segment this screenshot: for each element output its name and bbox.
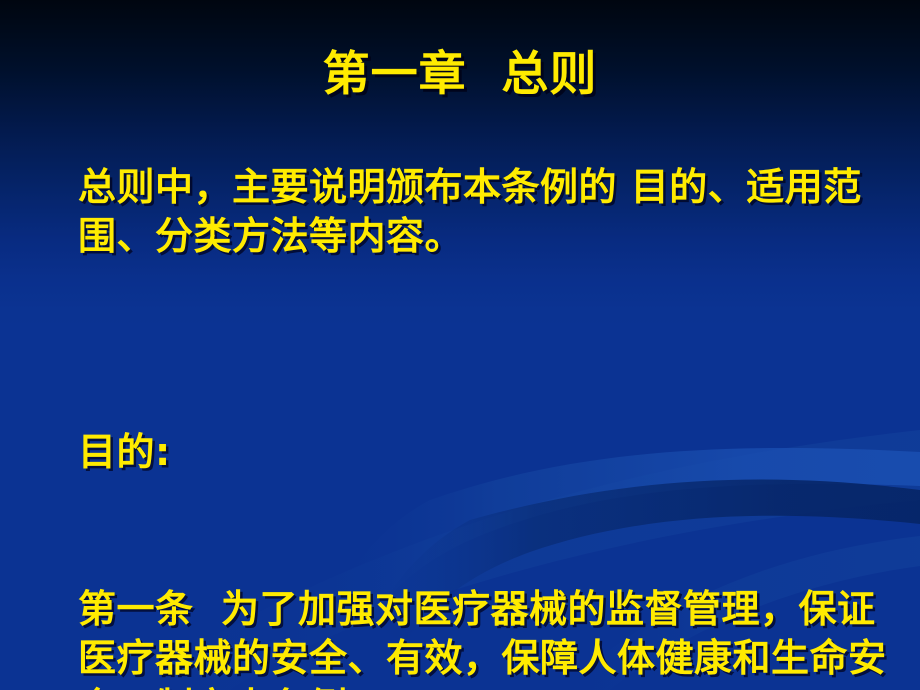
page-title: 第一章 总则 <box>0 46 920 104</box>
article-one-text: 第一条 为了加强对医疗器械的监督管理，保证医疗器械的安全、有效，保障人体健康和生… <box>78 585 908 690</box>
purpose-label: 目的: <box>78 428 908 477</box>
slide-canvas: 第一章 总则 总则中，主要说明颁布本条例的 目的、适用范围、分类方法等内容。 目… <box>0 0 920 690</box>
purpose-section: 目的: 第一条 为了加强对医疗器械的监督管理，保证医疗器械的安全、有效，保障人体… <box>78 330 908 690</box>
overview-paragraph: 总则中，主要说明颁布本条例的 目的、适用范围、分类方法等内容。 <box>78 163 908 261</box>
